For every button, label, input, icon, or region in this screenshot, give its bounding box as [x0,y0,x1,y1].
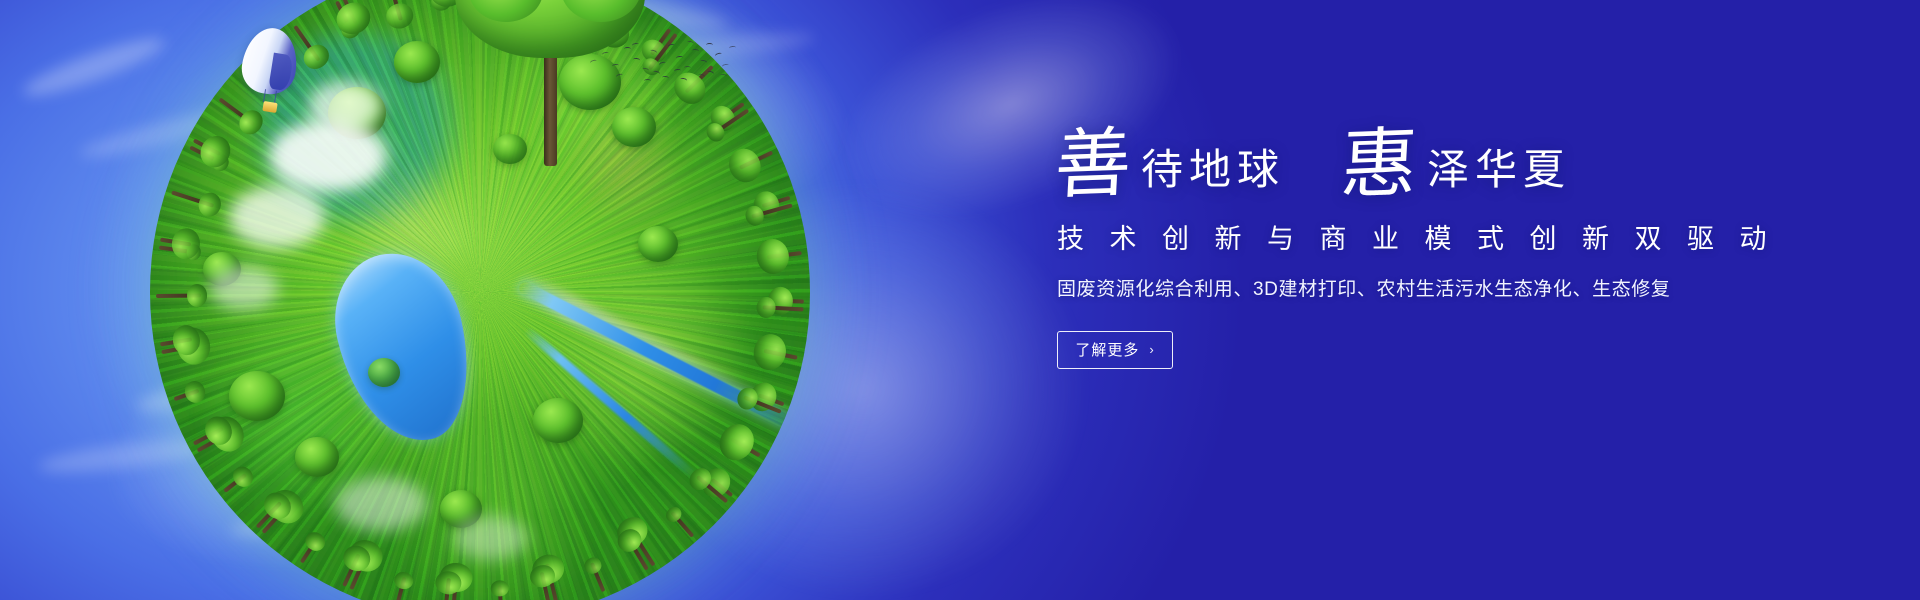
headline-rest-chars: 泽华夏 [1427,149,1571,201]
balloon-stripe [268,53,293,92]
bird-icon [659,61,667,67]
tree-canopy [229,371,285,421]
bird-icon [590,59,598,65]
bird-icon [616,73,624,79]
cloud-icon [454,516,528,560]
headline-lead-char: 善 [1053,127,1133,203]
headline-group-2: 惠 泽华夏 [1341,128,1571,201]
headline-group-1: 善 待地球 [1055,128,1285,201]
bird-icon [687,40,695,45]
bird-icon [700,59,708,64]
cloud-icon [308,81,382,131]
learn-more-label: 了解更多 [1075,339,1139,360]
bird-icon [633,58,640,63]
bird-icon [707,70,715,76]
cloud-icon [335,477,427,531]
bird-icon [729,46,736,51]
chevron-right-icon: › [1149,343,1154,356]
hot-air-balloon-icon [243,28,297,116]
tree-crown [187,284,208,307]
bird-icon [668,43,676,48]
bird-icon [644,79,651,83]
cloud-icon [269,120,387,192]
balloon-basket [262,101,277,113]
bird-icon [676,56,683,61]
bird-icon [674,69,681,74]
bird-icon [698,73,706,79]
headline-rest-chars: 待地球 [1141,149,1285,201]
bird-icon [720,74,727,79]
bird-icon [692,49,699,54]
bird-icon [715,52,723,58]
hero-banner: 善 待地球 惠 泽华夏 技 术 创 新 与 商 业 模 式 创 新 双 驱 动 … [0,0,1920,600]
bird-icon [612,64,619,69]
bird-icon [642,67,650,72]
page-title: 善 待地球 惠 泽华夏 [1055,128,1795,201]
cloud-icon [209,266,279,310]
bird-icon [632,42,640,47]
bird-icon [653,70,661,76]
birds-icon [586,38,736,90]
bird-icon [602,51,610,56]
bird-icon [624,47,631,51]
bird-icon [706,43,713,47]
bird-icon [680,77,688,82]
headline-lead-char: 惠 [1339,127,1419,203]
page-subtitle: 技 术 创 新 与 商 业 模 式 创 新 双 驱 动 [1057,217,1795,256]
tree-canopy [533,398,583,443]
tree-canopy [368,358,400,387]
bird-icon [650,49,658,55]
bird-icon [662,76,669,81]
bird-icon [722,63,730,68]
learn-more-button[interactable]: 了解更多 › [1057,331,1173,369]
page-description: 固废资源化综合利用、3D建材打印、农村生活污水生态净化、生态修复 [1057,274,1795,301]
banner-content: 善 待地球 惠 泽华夏 技 术 创 新 与 商 业 模 式 创 新 双 驱 动 … [1055,128,1795,369]
bird-icon [684,66,691,70]
